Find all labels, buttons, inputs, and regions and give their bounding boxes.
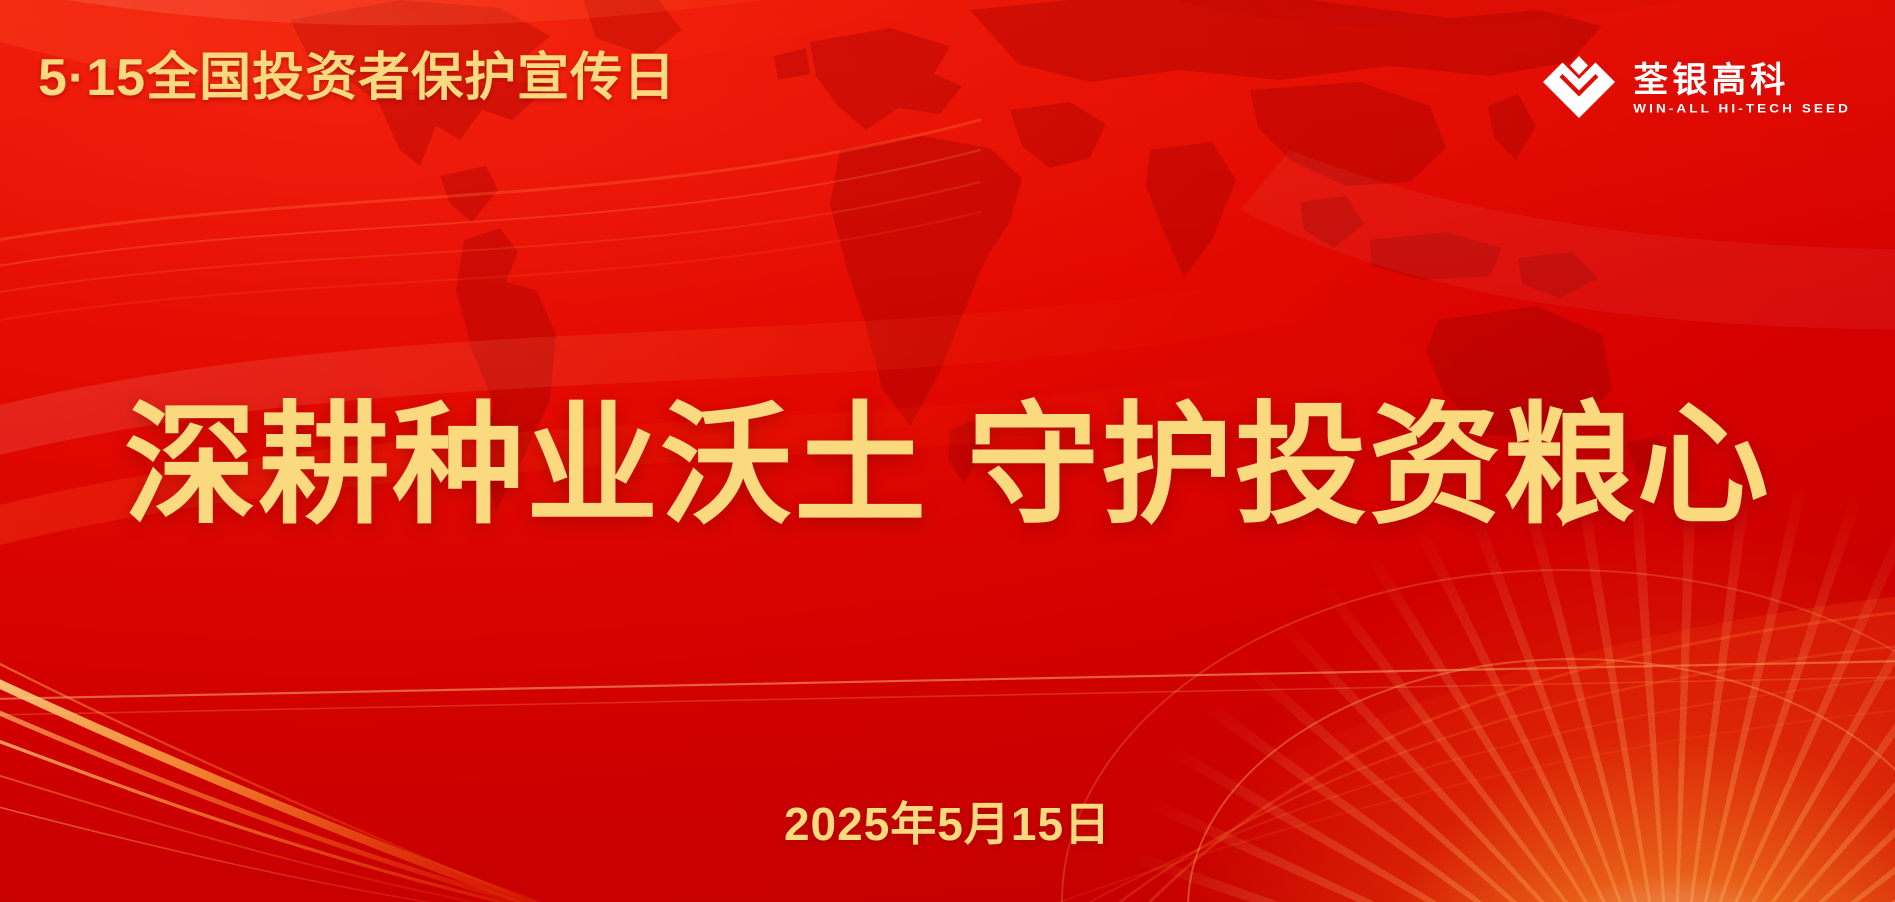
headline: 深耕种业沃土 守护投资粮心 bbox=[0, 392, 1895, 540]
investor-protection-banner: 5·15全国投资者保护宣传日 荃银高科 WIN-ALL HI-TECH SEED… bbox=[0, 0, 1895, 902]
headline-text: 深耕种业沃土 守护投资粮心 bbox=[124, 392, 1771, 540]
logo-name-en: WIN-ALL HI-TECH SEED bbox=[1633, 102, 1851, 114]
company-logo: 荃银高科 WIN-ALL HI-TECH SEED bbox=[1543, 56, 1851, 122]
event-title: 5·15全国投资者保护宣传日 bbox=[38, 52, 676, 104]
date-line: 2025年5月15日 bbox=[0, 801, 1895, 847]
date-text: 2025年5月15日 bbox=[784, 801, 1111, 847]
logo-wordmark: 荃银高科 WIN-ALL HI-TECH SEED bbox=[1633, 63, 1851, 116]
logo-name-cn: 荃银高科 bbox=[1633, 63, 1851, 98]
win-all-chevron-mark-icon bbox=[1543, 56, 1615, 122]
